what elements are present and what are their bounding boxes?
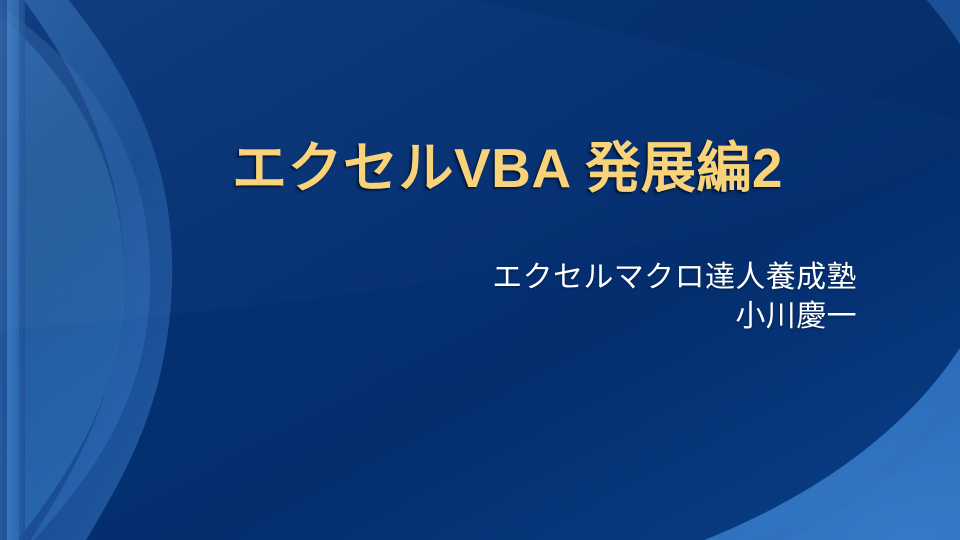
presentation-slide: エクセルVBA 発展編2 エクセルマクロ達人養成塾 小川慶一 (0, 0, 960, 540)
title-block: エクセルVBA 発展編2 (232, 131, 864, 205)
subtitle-block: エクセルマクロ達人養成塾 小川慶一 (400, 258, 857, 336)
slide-content: エクセルVBA 発展編2 エクセルマクロ達人養成塾 小川慶一 (0, 0, 960, 540)
slide-title: エクセルVBA 発展編2 (232, 131, 864, 205)
subtitle-line-author: 小川慶一 (400, 297, 857, 336)
subtitle-line-organization: エクセルマクロ達人養成塾 (400, 258, 857, 297)
